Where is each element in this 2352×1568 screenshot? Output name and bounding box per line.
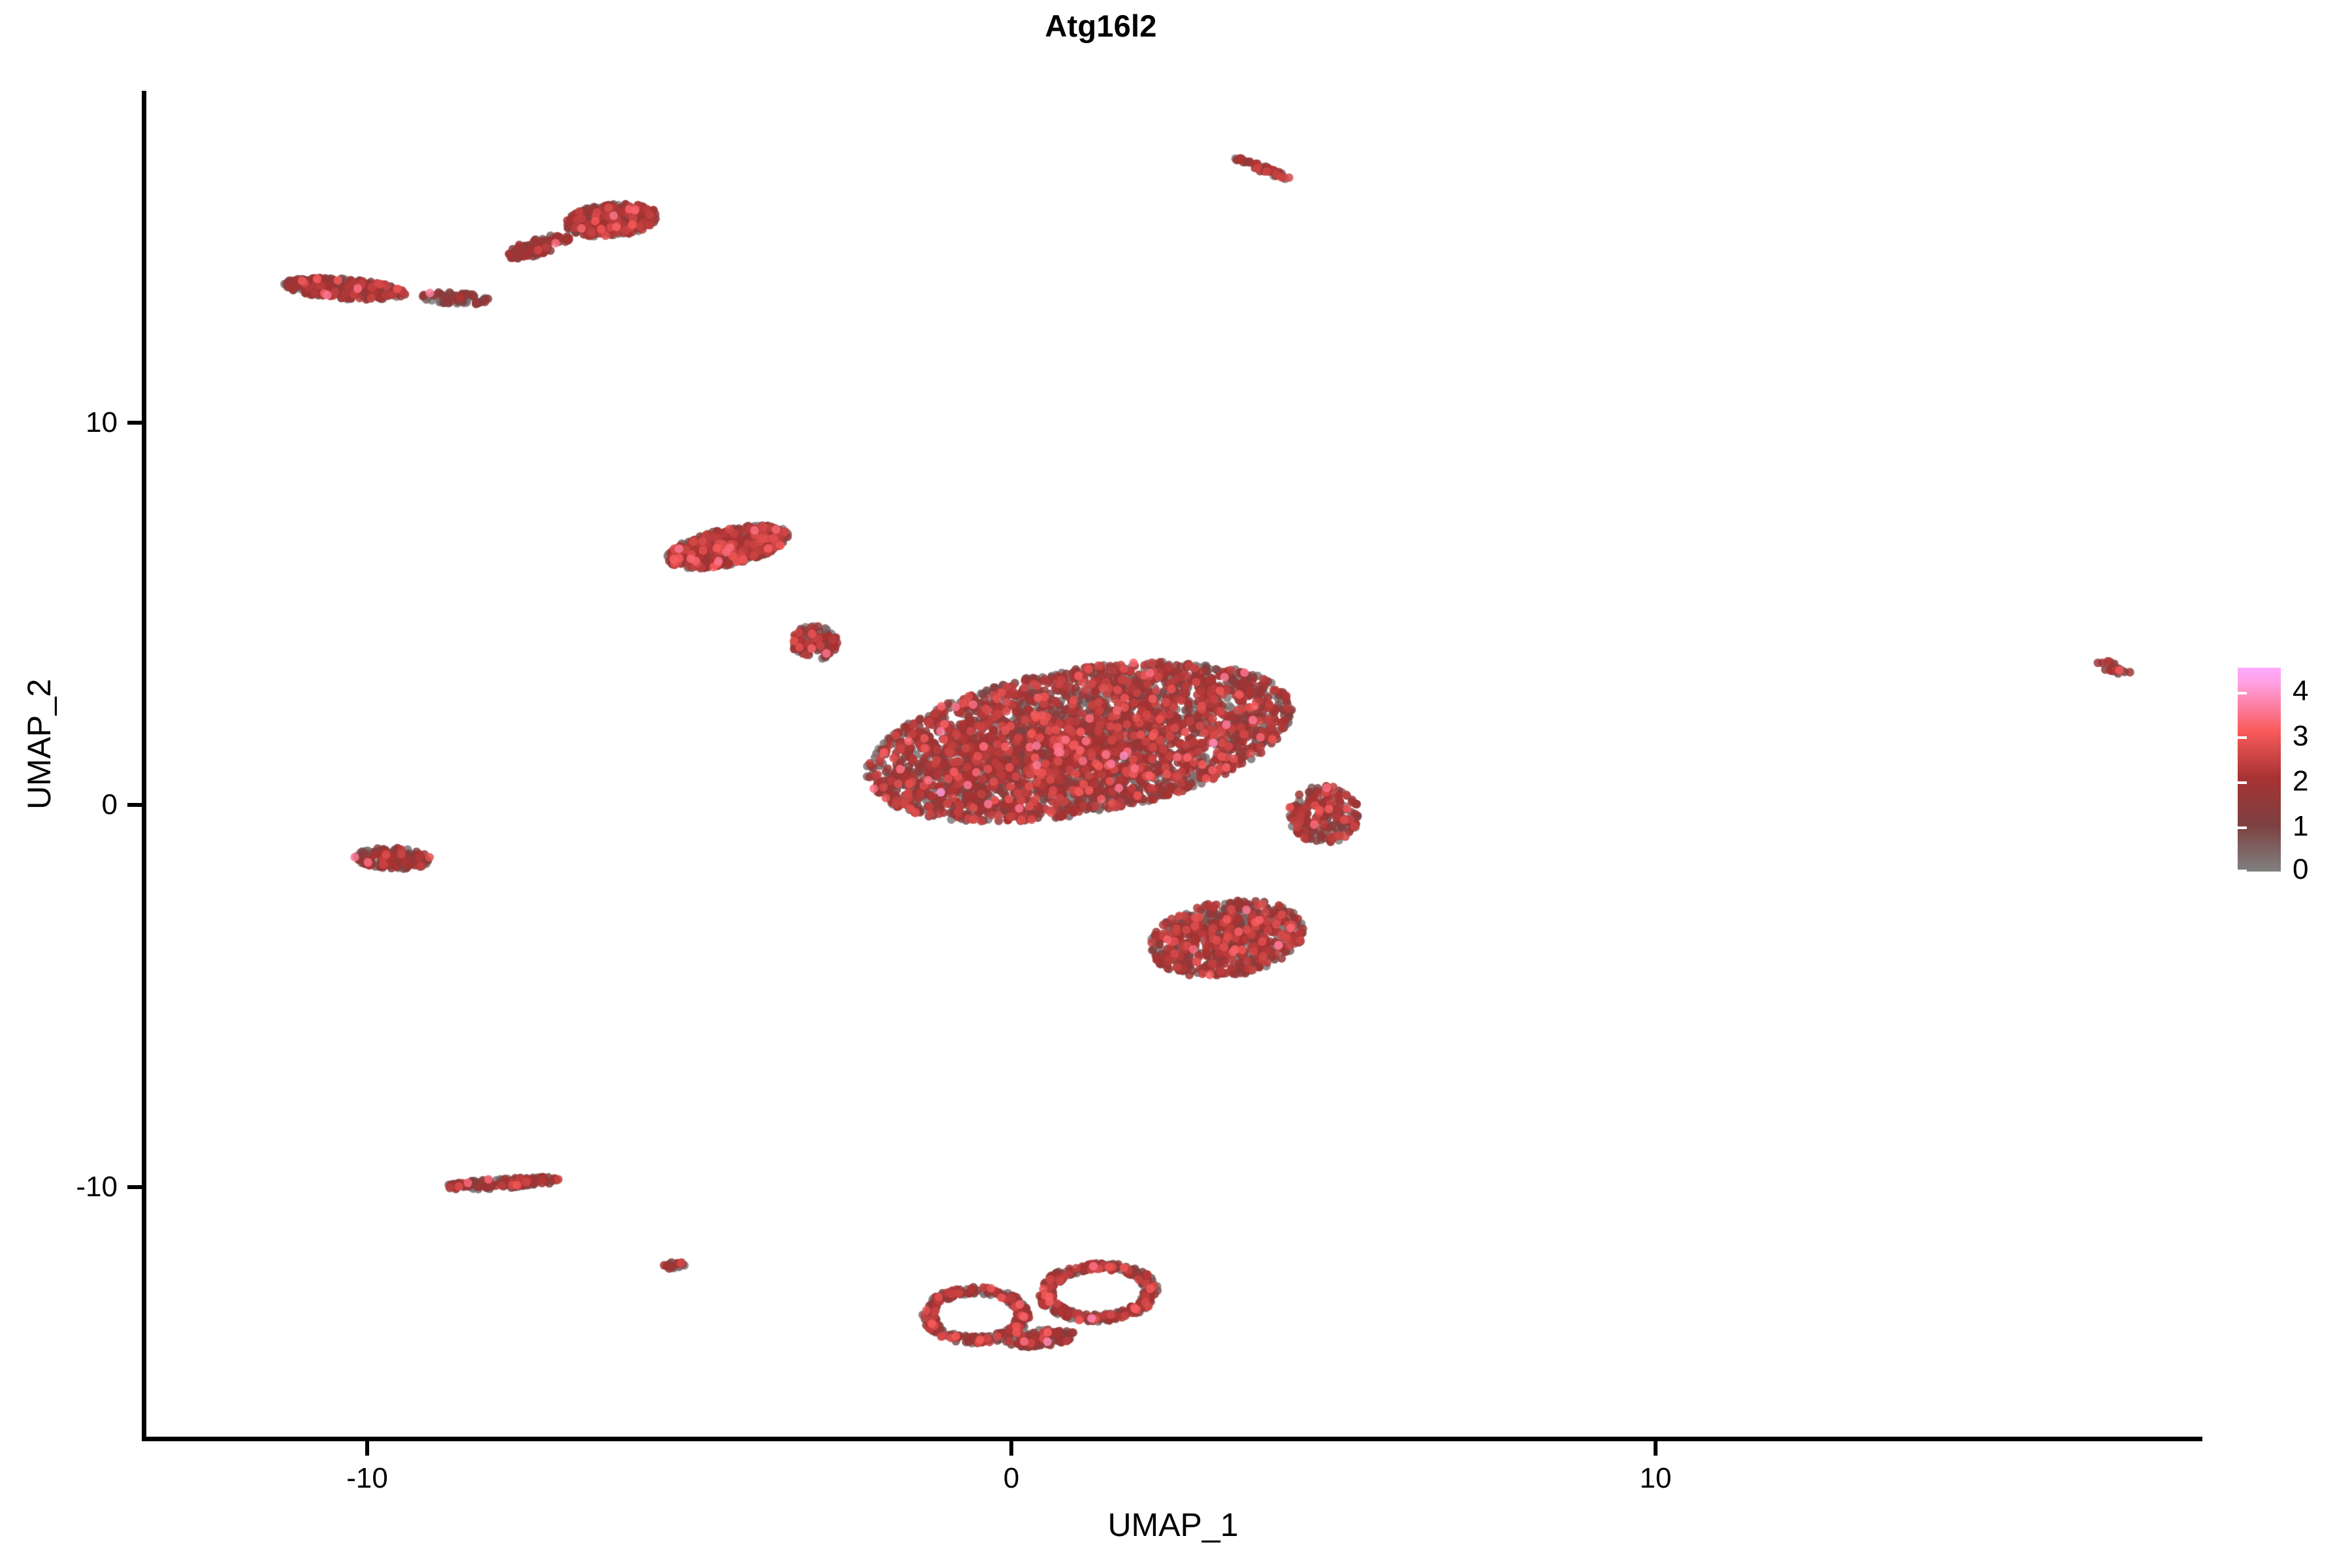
colorbar-tick-4-left: [2238, 692, 2247, 694]
colorbar-tick-2-left: [2238, 781, 2247, 784]
colorbar-tick-0-left: [2238, 870, 2247, 872]
x-tick-label-0: 0: [946, 1462, 1077, 1495]
y-tick-mark-minus10: [127, 1185, 142, 1189]
colorbar-label-1: 1: [2293, 812, 2308, 841]
x-tick-label-10: 10: [1590, 1462, 1721, 1495]
y-tick-label-minus10: -10: [7, 1171, 118, 1203]
x-tick-mark-0: [1009, 1441, 1013, 1456]
colorbar-gradient: [2238, 668, 2281, 872]
x-axis-line: [142, 1437, 2202, 1441]
x-tick-mark-minus10: [365, 1441, 369, 1456]
y-tick-mark-0: [127, 803, 142, 807]
colorbar-tick-2-right: [2333, 781, 2342, 784]
y-axis-title: UMAP_2: [20, 574, 58, 914]
colorbar-label-4: 4: [2293, 677, 2308, 706]
umap-feature-plot: Atg16l2 10 0 -10 -10 0 10 UMAP_2 UMAP_1 …: [0, 0, 2352, 1568]
y-tick-mark-10: [127, 421, 142, 425]
x-tick-label-minus10: -10: [302, 1462, 433, 1495]
colorbar-tick-3-right: [2333, 736, 2342, 739]
page-title: Atg16l2: [0, 8, 2202, 44]
colorbar-label-3: 3: [2293, 722, 2308, 751]
y-axis-line: [142, 91, 146, 1441]
colorbar-tick-1-right: [2333, 826, 2342, 829]
scatter-plot-canvas: [144, 91, 2202, 1439]
x-axis-title: UMAP_1: [144, 1506, 2202, 1544]
colorbar-legend: 4 3 2 1 0: [2238, 668, 2342, 877]
y-tick-label-10: 10: [7, 406, 118, 439]
colorbar-label-2: 2: [2293, 767, 2308, 796]
x-tick-mark-10: [1654, 1441, 1658, 1456]
colorbar-tick-1-left: [2238, 826, 2247, 829]
colorbar-tick-0-right: [2333, 870, 2342, 872]
colorbar-tick-4-right: [2333, 692, 2342, 694]
colorbar-label-0: 0: [2293, 855, 2308, 884]
colorbar-tick-3-left: [2238, 736, 2247, 739]
